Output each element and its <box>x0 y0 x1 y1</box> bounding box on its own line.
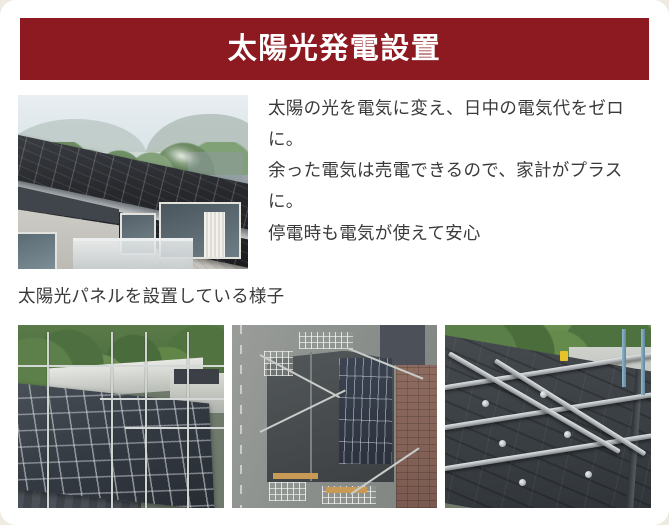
curtain <box>204 212 225 257</box>
hero-description-line-2: 余った電気は売電できるので、家計がプラスに。 <box>268 155 651 217</box>
road-marking <box>240 325 242 508</box>
gallery-photo-aerial-roof <box>232 325 438 508</box>
hero-description-line-1: 太陽の光を電気に変え、日中の電気代をゼロに。 <box>268 93 651 155</box>
hero-description-line-3: 停電時も電気が使えて安心 <box>268 218 651 249</box>
mounting-rails-scene <box>445 325 651 508</box>
scaffold-post-1 <box>622 329 626 388</box>
safety-tag <box>560 351 568 361</box>
solar-panel-array <box>339 358 392 464</box>
scaffold-pole-3 <box>145 332 147 508</box>
rail-foot-3 <box>499 440 506 447</box>
house-solar-roof-photo <box>18 95 248 269</box>
gallery-photo-mounting-rails <box>445 325 651 508</box>
rail-foot-5 <box>519 479 526 486</box>
gallery <box>18 325 651 508</box>
scaffold-pole-1 <box>47 332 49 508</box>
scaffold-plank-1 <box>273 473 318 479</box>
brick-wall <box>396 365 437 508</box>
hero-row: 太陽の光を電気に変え、日中の電気代をゼロに。 余った電気は売電できるので、家計が… <box>18 93 651 273</box>
section-title-bar: 太陽光発電設置 <box>20 18 649 80</box>
scaffold-pole-4 <box>187 332 189 508</box>
rail-foot-2 <box>540 391 547 398</box>
scaffold-pole-2 <box>111 332 113 508</box>
balcony-rail <box>73 238 193 269</box>
scaffold-rail-2 <box>100 398 223 400</box>
solar-installation-card: 太陽光発電設置 太 <box>0 0 669 525</box>
scaffold-rail-1 <box>18 365 224 367</box>
scaffold-deck-bottom-left <box>269 482 306 500</box>
roof-ridge <box>310 352 312 480</box>
hero-description: 太陽の光を電気に変え、日中の電気代をゼロに。 余った電気は売電できるので、家計が… <box>268 93 651 249</box>
neighbour-roof <box>174 369 219 384</box>
panels-installed-scene <box>18 325 224 508</box>
aerial-roof-scene <box>232 325 438 508</box>
scaffold-rail-3 <box>125 427 224 429</box>
scaffold-post-2 <box>641 329 645 395</box>
window-left <box>18 232 57 269</box>
gallery-photo-panels-installed <box>18 325 224 508</box>
page-title: 太陽光発電設置 <box>228 35 442 64</box>
gallery-caption: 太陽光パネルを設置している様子 <box>18 284 284 309</box>
house-solar-roof-scene <box>18 95 248 269</box>
scaffold-deck-top <box>299 332 352 348</box>
